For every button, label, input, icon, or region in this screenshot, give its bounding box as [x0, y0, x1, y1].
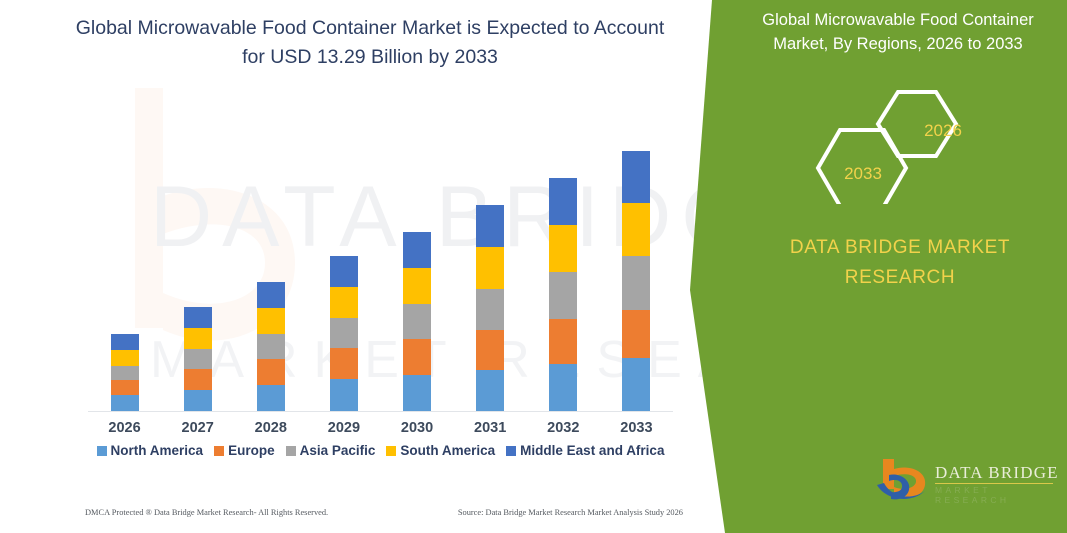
hexagon-label-2033: 2033 [818, 164, 908, 184]
stacked-bar [403, 232, 431, 411]
bar-segment [111, 395, 139, 411]
bar-segment [111, 380, 139, 395]
legend-swatch [97, 446, 107, 456]
footer: DMCA Protected ® Data Bridge Market Rese… [85, 508, 685, 517]
bar-segment [184, 328, 212, 349]
legend-label: Europe [228, 443, 275, 458]
bar-column [384, 95, 450, 411]
bar-segment [476, 370, 504, 411]
bar-segment [330, 379, 358, 411]
legend-swatch [286, 446, 296, 456]
bar-segment [403, 232, 431, 268]
bar-segment [403, 304, 431, 339]
dbmr-logo-word: DATA BRIDGE [935, 463, 1059, 483]
x-axis-label: 2030 [384, 420, 450, 436]
legend-item[interactable]: Middle East and Africa [506, 443, 664, 458]
legend-label: Middle East and Africa [520, 443, 664, 458]
bar-segment [403, 339, 431, 375]
footer-copyright: DMCA Protected ® Data Bridge Market Rese… [85, 508, 328, 517]
chart-pane: Global Microwavable Food Container Marke… [0, 0, 740, 533]
stacked-bar [549, 178, 577, 411]
legend-swatch [506, 446, 516, 456]
bar-segment [622, 151, 650, 203]
x-axis-line [88, 411, 673, 412]
bar-column [530, 95, 596, 411]
stacked-bar [257, 282, 285, 411]
legend-label: North America [111, 443, 204, 458]
bar-segment [257, 359, 285, 385]
bar-segment [184, 349, 212, 369]
dbmr-logo-subtitle: MARKET RESEARCH [935, 485, 1065, 505]
stacked-bar [476, 205, 504, 411]
x-axis-label: 2031 [457, 420, 523, 436]
bar-column [457, 95, 523, 411]
dbmr-logo: DATA BRIDGE MARKET RESEARCH [875, 455, 1065, 511]
bar-group [88, 95, 673, 411]
bar-segment [622, 203, 650, 256]
bar-segment [476, 330, 504, 370]
bar-column [238, 95, 304, 411]
bar-segment [476, 205, 504, 247]
bar-column [311, 95, 377, 411]
bar-segment [549, 272, 577, 319]
x-axis-label: 2033 [603, 420, 669, 436]
green-side-panel: Global Microwavable Food Container Marke… [660, 0, 1067, 533]
bar-segment [622, 256, 650, 310]
hexagon-shapes-icon [810, 84, 1050, 204]
bar-segment [549, 225, 577, 272]
bar-segment [549, 364, 577, 411]
x-axis-label: 2028 [238, 420, 304, 436]
stacked-bar [184, 307, 212, 411]
plot-area [88, 95, 673, 412]
x-axis-label: 2026 [92, 420, 158, 436]
x-axis-label: 2027 [165, 420, 231, 436]
legend-item[interactable]: South America [386, 443, 495, 458]
bar-segment [330, 348, 358, 379]
bar-segment [403, 268, 431, 304]
legend-item[interactable]: North America [97, 443, 204, 458]
stacked-bar [111, 334, 139, 411]
x-axis-label: 2032 [530, 420, 596, 436]
bar-column [92, 95, 158, 411]
x-axis-label: 2029 [311, 420, 377, 436]
bar-segment [549, 319, 577, 364]
legend-label: South America [400, 443, 495, 458]
chart-title: Global Microwavable Food Container Marke… [70, 14, 670, 72]
legend-label: Asia Pacific [300, 443, 376, 458]
bar-segment [257, 385, 285, 411]
legend-item[interactable]: Asia Pacific [286, 443, 376, 458]
bar-segment [476, 247, 504, 289]
legend-swatch [386, 446, 396, 456]
bar-segment [184, 307, 212, 328]
legend-item[interactable]: Europe [214, 443, 275, 458]
legend-swatch [214, 446, 224, 456]
dbmr-b-mark-icon [875, 455, 931, 505]
bar-segment [184, 390, 212, 411]
bar-segment [476, 289, 504, 330]
bar-column [165, 95, 231, 411]
bar-segment [257, 282, 285, 308]
bar-segment [257, 334, 285, 359]
brand-title: DATA BRIDGE MARKET RESEARCH [780, 233, 1020, 293]
infographic-canvas: DATA BRIDGE MARKET RESEARCH Global Micro… [0, 0, 1067, 533]
chart-legend: North AmericaEuropeAsia PacificSouth Ame… [88, 443, 673, 458]
stacked-bar [622, 151, 650, 411]
bar-column [603, 95, 669, 411]
bar-segment [403, 375, 431, 411]
bar-segment [330, 256, 358, 287]
bar-segment [330, 287, 358, 318]
hexagon-label-2026: 2026 [903, 121, 983, 141]
bar-segment [622, 310, 650, 358]
footer-source: Source: Data Bridge Market Research Mark… [458, 508, 685, 517]
x-axis-labels: 20262027202820292030203120322033 [88, 420, 673, 436]
bar-segment [111, 334, 139, 350]
bar-segment [257, 308, 285, 334]
bar-segment [111, 350, 139, 366]
bar-segment [111, 366, 139, 380]
bar-segment [622, 358, 650, 411]
panel-title: Global Microwavable Food Container Marke… [738, 8, 1058, 56]
bar-segment [330, 318, 358, 348]
stacked-bar [330, 256, 358, 411]
hexagon-group: 2033 2026 [810, 84, 1050, 204]
bar-segment [184, 369, 212, 390]
bar-segment [549, 178, 577, 225]
dbmr-logo-rule [935, 483, 1053, 484]
